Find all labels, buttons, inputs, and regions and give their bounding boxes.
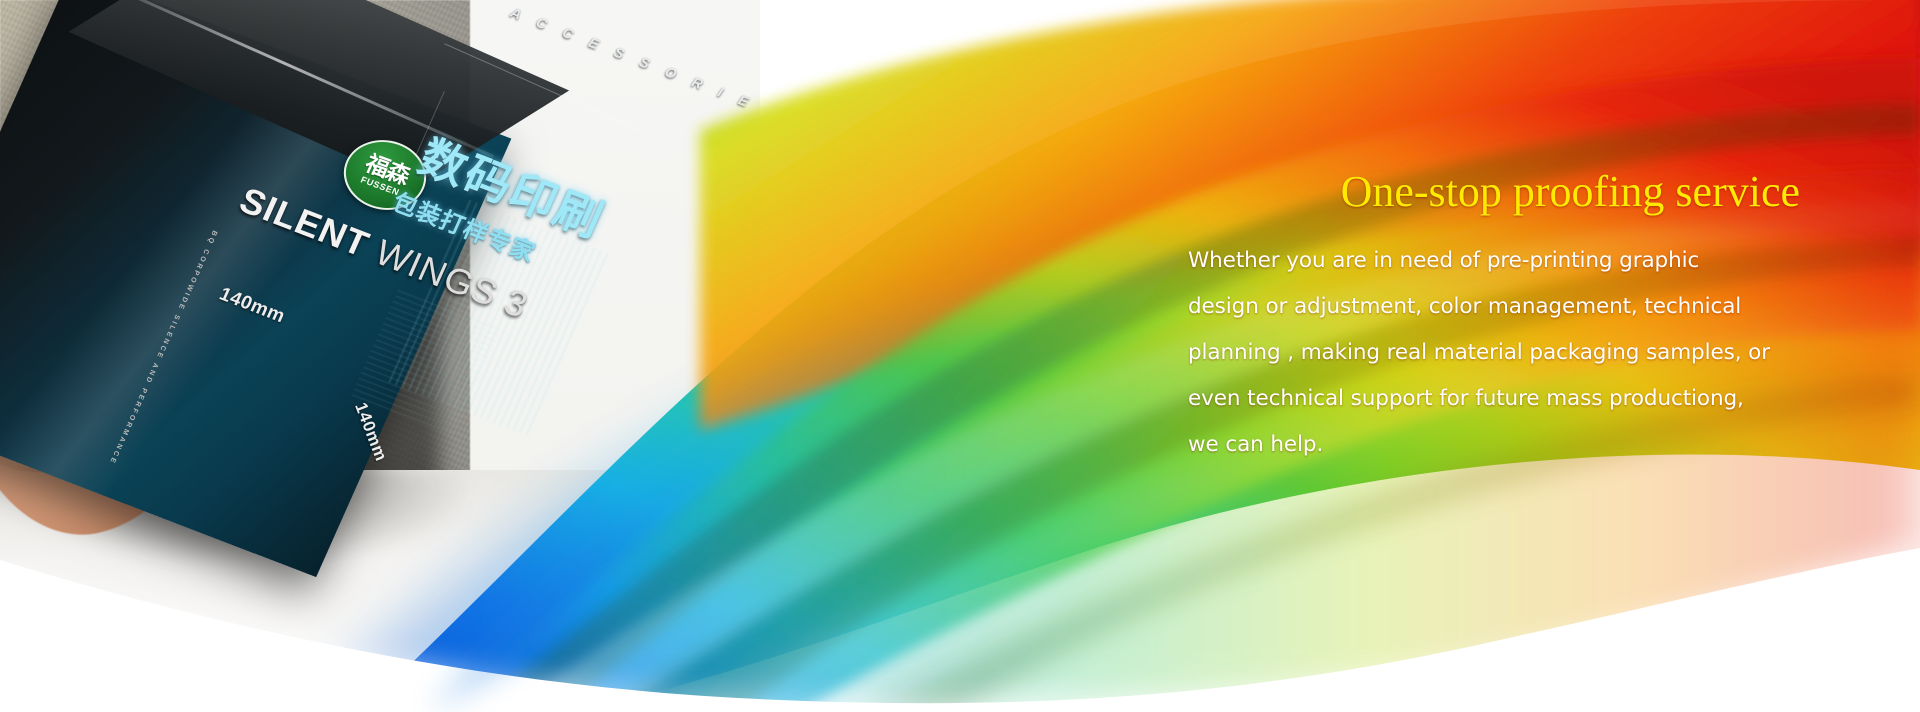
banner-headline: One-stop proofing service <box>1188 168 1878 216</box>
body-line: we can help. <box>1188 422 1878 468</box>
body-line: planning , making real material packagin… <box>1188 330 1878 376</box>
banner-body: Whether you are in need of pre-printing … <box>1188 238 1878 468</box>
body-line: Whether you are in need of pre-printing … <box>1188 238 1878 284</box>
body-line: even technical support for future mass p… <box>1188 376 1878 422</box>
marketing-banner: A C C E S S O R I E S 福森 FUSSEN 数码印刷 包装打… <box>0 0 1920 712</box>
banner-copy: One-stop proofing service Whether you ar… <box>1188 168 1878 468</box>
body-line: design or adjustment, color management, … <box>1188 284 1878 330</box>
